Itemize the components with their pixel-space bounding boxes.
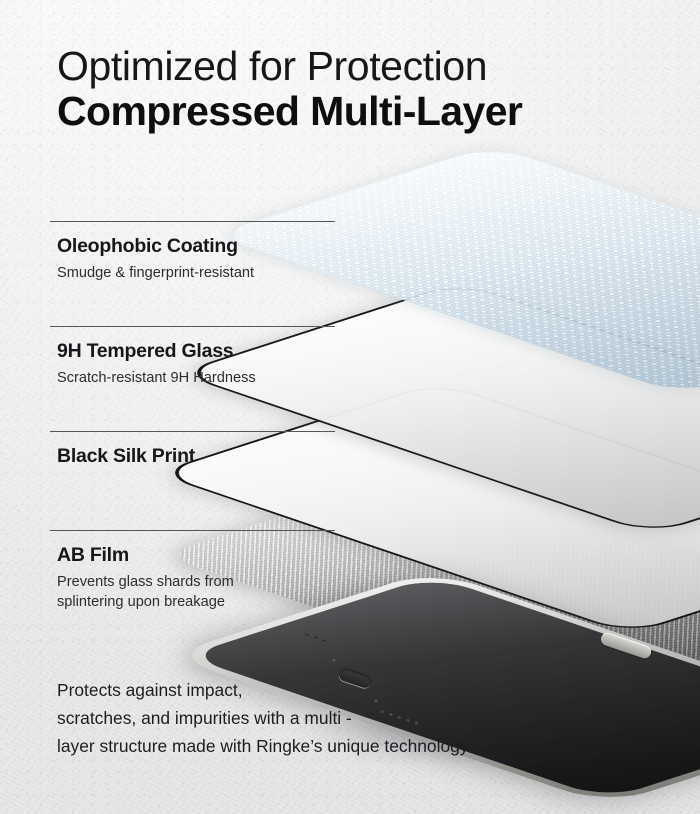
feature-divider <box>50 431 335 432</box>
headline-block: Optimized for Protection Compressed Mult… <box>57 44 657 135</box>
closing-line-3: layer structure made with Ringke’s uniqu… <box>57 732 617 760</box>
feature-item-black-silk-print: Black Silk Print <box>50 431 350 468</box>
headline-line-2: Compressed Multi-Layer <box>57 88 657 135</box>
feature-subtitle: Smudge & fingerprint-resistant <box>57 264 350 283</box>
closing-line-2: scratches, and impurities with a multi - <box>57 704 617 732</box>
feature-title: 9H Tempered Glass <box>57 340 350 363</box>
feature-subtitle: Scratch-resistant 9H Hardness <box>57 369 350 388</box>
feature-item-oleophobic-coating: Oleophobic Coating Smudge & fingerprint-… <box>50 221 350 284</box>
product-feature-graphic: Optimized for Protection Compressed Mult… <box>0 0 700 814</box>
feature-item-ab-film: AB Film Prevents glass shards from splin… <box>50 530 350 612</box>
feature-divider <box>50 221 335 222</box>
feature-divider <box>50 326 335 327</box>
feature-divider <box>50 530 335 531</box>
feature-title: Black Silk Print <box>57 445 350 468</box>
feature-title: AB Film <box>57 544 350 567</box>
feature-title: Oleophobic Coating <box>57 235 350 258</box>
headline-line-1: Optimized for Protection <box>57 44 657 88</box>
closing-paragraph: Protects against impact, scratches, and … <box>57 676 617 761</box>
closing-line-1: Protects against impact, <box>57 676 617 704</box>
feature-subtitle: Prevents glass shards from splintering u… <box>57 573 292 612</box>
feature-item-tempered-glass: 9H Tempered Glass Scratch-resistant 9H H… <box>50 326 350 389</box>
